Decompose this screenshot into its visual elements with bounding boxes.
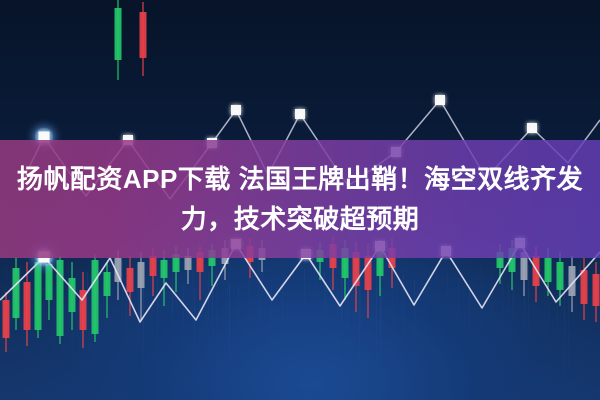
banner-image: 扬帆配资APP下载 法国王牌出鞘！海空双线齐发 力，技术突破超预期 xyxy=(0,0,600,400)
headline-line-2: 力，技术突破超预期 xyxy=(181,199,420,239)
headline-text: 扬帆配资APP下载 法国王牌出鞘！海空双线齐发 力，技术突破超预期 xyxy=(0,140,600,258)
headline-line-1: 扬帆配资APP下载 法国王牌出鞘！海空双线齐发 xyxy=(17,159,583,199)
